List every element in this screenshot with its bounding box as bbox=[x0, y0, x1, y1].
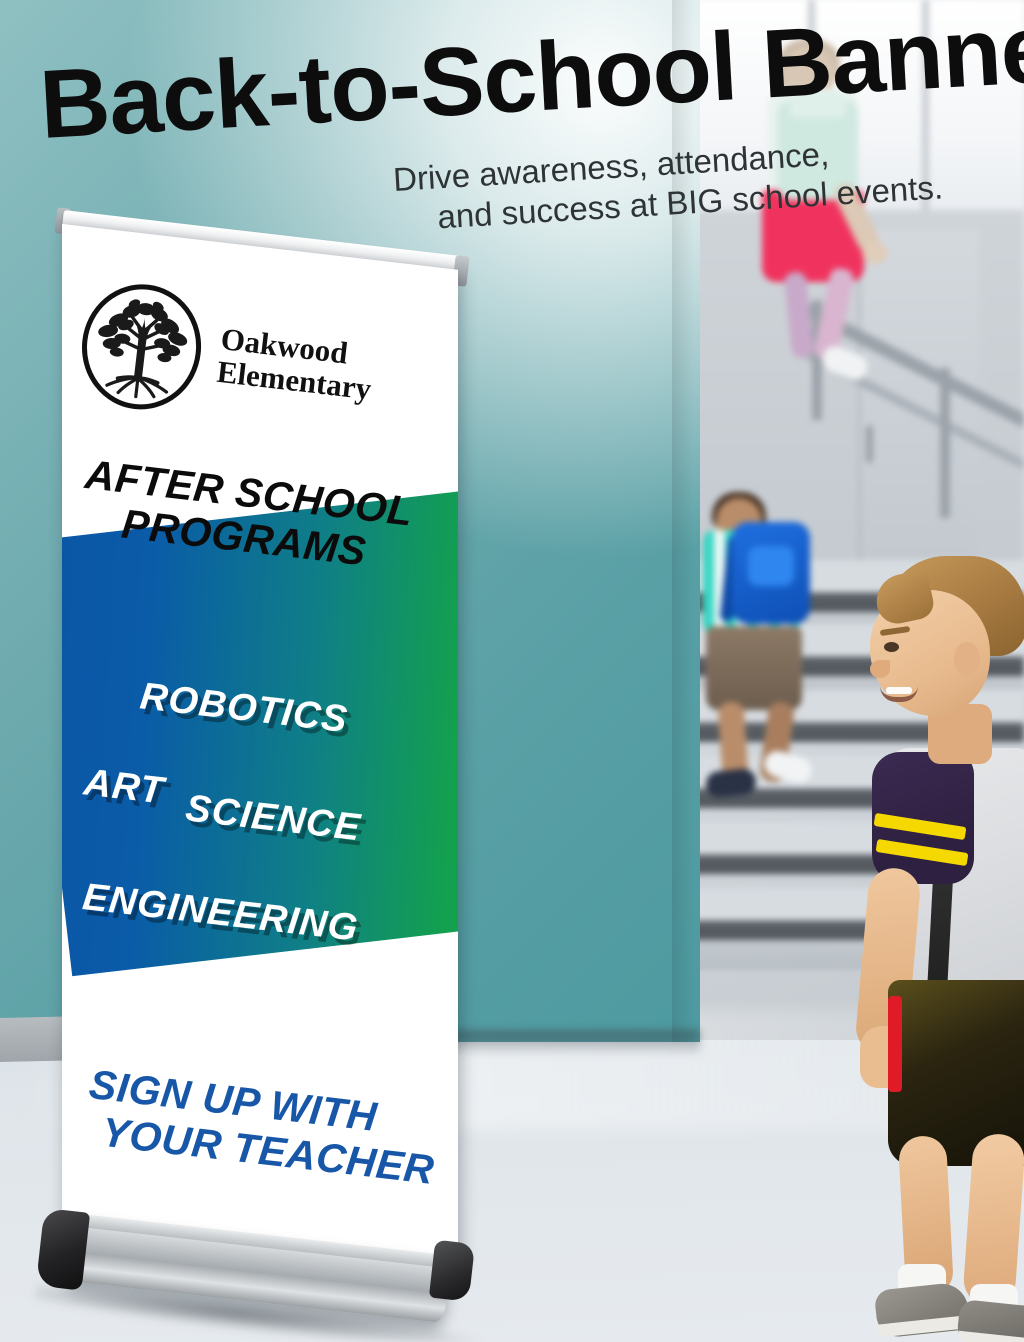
retractable-banner-stand: Oakwood Elementary AFTER SCHOOL PROGRAMS… bbox=[40, 196, 460, 1316]
tree-of-life-circle-icon bbox=[71, 276, 213, 418]
program-item-art: ART bbox=[82, 761, 167, 813]
poster-title: Back-to-School Banners bbox=[37, 4, 1001, 151]
leg-right bbox=[962, 1132, 1024, 1307]
school-name: Oakwood Elementary bbox=[215, 323, 376, 406]
foreground-student bbox=[836, 556, 1024, 1342]
handrail-post bbox=[940, 368, 950, 518]
shorts-red-stripe bbox=[888, 996, 902, 1092]
teeth bbox=[886, 687, 912, 694]
leg-left bbox=[717, 701, 748, 779]
poster-subtitle: Drive awareness, attendance, and success… bbox=[392, 122, 1024, 239]
banner-print-face: Oakwood Elementary AFTER SCHOOL PROGRAMS… bbox=[62, 224, 458, 1272]
shorts bbox=[706, 626, 802, 710]
base-end-cap-left bbox=[36, 1208, 90, 1291]
ear bbox=[954, 642, 980, 676]
program-item-science: SCIENCE bbox=[183, 787, 363, 850]
backpack-pocket bbox=[748, 546, 794, 586]
poster-header: Back-to-School Banners Drive awareness, … bbox=[0, 0, 1024, 270]
program-list: ROBOTICS ART SCIENCE ENGINEERING bbox=[62, 660, 455, 1073]
shoe-left bbox=[705, 767, 757, 798]
program-item-engineering: ENGINEERING bbox=[80, 876, 360, 951]
nose bbox=[870, 660, 890, 678]
eye bbox=[884, 642, 899, 652]
poster-canvas: Oakwood Elementary AFTER SCHOOL PROGRAMS… bbox=[0, 0, 1024, 1342]
